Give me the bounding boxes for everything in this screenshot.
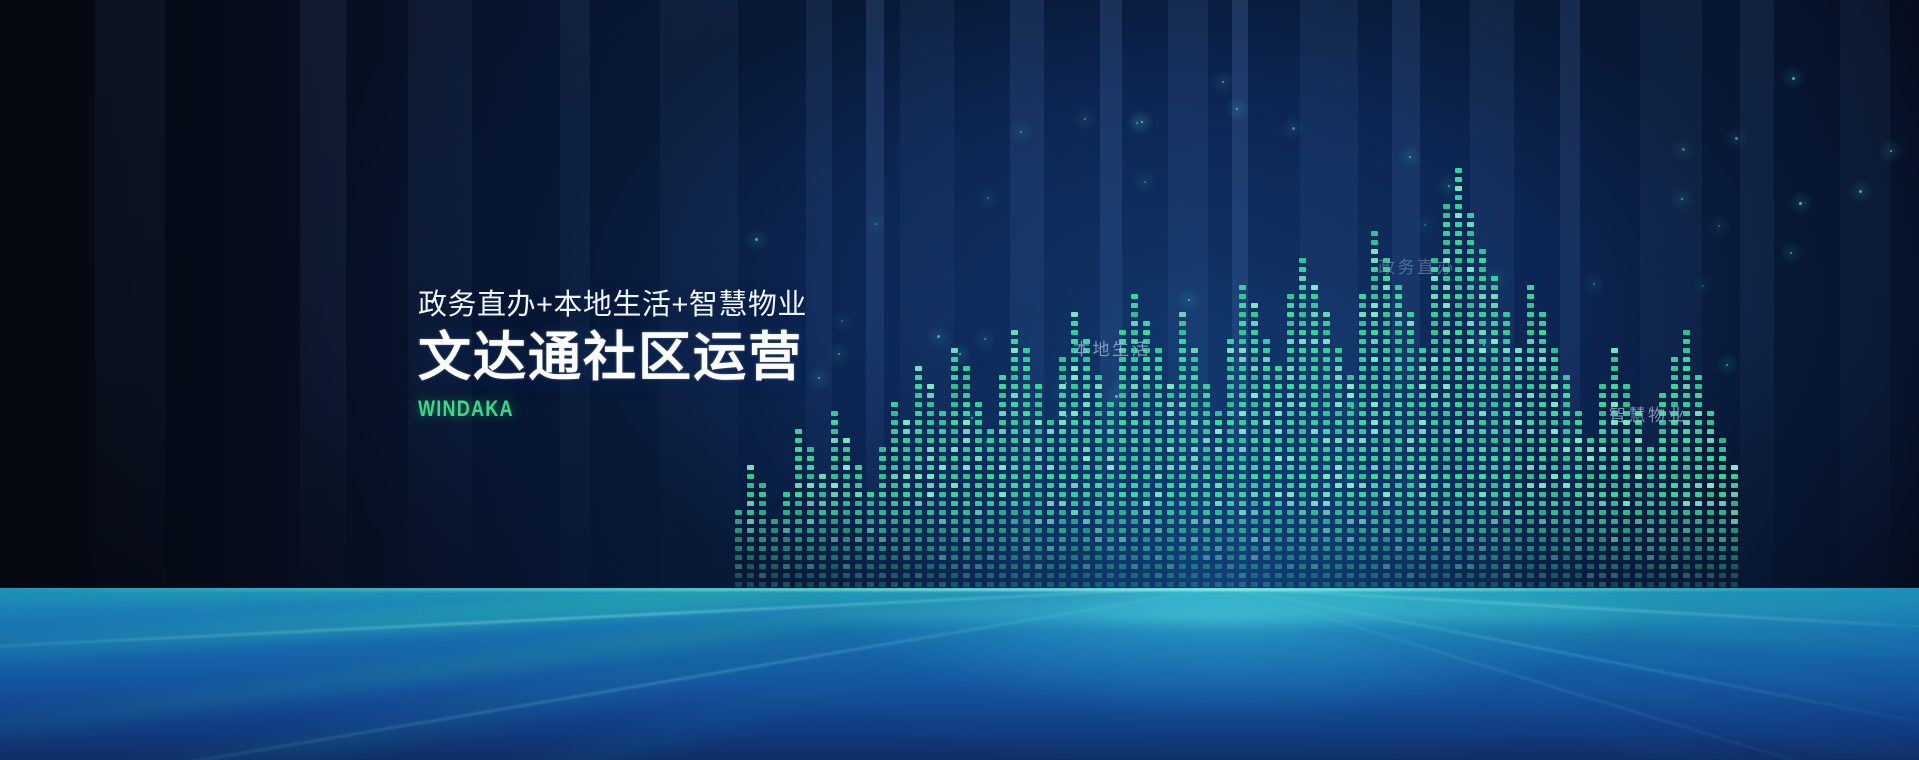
skyline-dot	[1251, 357, 1258, 362]
skyline-dot	[1251, 438, 1258, 443]
skyline-dot	[1383, 312, 1390, 317]
skyline-dot	[1695, 384, 1702, 389]
skyline-dot	[1527, 510, 1534, 515]
skyline-dot	[1083, 564, 1090, 569]
skyline-dot	[1131, 303, 1138, 308]
skyline-dot	[1131, 519, 1138, 524]
skyline-dot	[987, 573, 994, 578]
skyline-dot	[1359, 402, 1366, 407]
skyline-dot	[795, 555, 802, 560]
skyline-dot	[747, 537, 754, 542]
skyline-dot	[1287, 537, 1294, 542]
skyline-column	[1059, 347, 1066, 605]
skyline-dot	[1179, 402, 1186, 407]
skyline-dot	[1179, 474, 1186, 479]
skyline-dot	[1179, 366, 1186, 371]
skyline-dot	[1479, 528, 1486, 533]
skyline-dot	[1491, 402, 1498, 407]
skyline-column	[1659, 383, 1666, 605]
skyline-dot	[843, 546, 850, 551]
skyline-dot	[1599, 447, 1606, 452]
skyline-dot	[855, 555, 862, 560]
skyline-dot	[1191, 492, 1198, 497]
skyline-dot	[1383, 573, 1390, 578]
skyline-dot	[1623, 474, 1630, 479]
skyline-dot	[1659, 564, 1666, 569]
skyline-dot	[1623, 465, 1630, 470]
skyline-dot	[1239, 411, 1246, 416]
skyline-dot	[1311, 483, 1318, 488]
skyline-dot	[1059, 429, 1066, 434]
skyline-dot	[1059, 492, 1066, 497]
skyline-dot	[1371, 339, 1378, 344]
skyline-dot	[795, 474, 802, 479]
skyline-dot	[1599, 411, 1606, 416]
skyline-dot	[735, 546, 742, 551]
skyline-column	[1443, 193, 1450, 605]
skyline-dot	[1395, 294, 1402, 299]
skyline-dot	[1023, 447, 1030, 452]
skyline-dot	[1335, 546, 1342, 551]
skyline-dot	[759, 528, 766, 533]
skyline-dot	[939, 483, 946, 488]
skyline-dot	[1635, 537, 1642, 542]
skyline-dot	[1539, 312, 1546, 317]
skyline-dot	[1491, 438, 1498, 443]
skyline-dot	[795, 564, 802, 569]
skyline-dot	[1683, 564, 1690, 569]
skyline-dot	[1011, 546, 1018, 551]
skyline-dot	[1071, 555, 1078, 560]
skyline-dot	[1539, 537, 1546, 542]
skyline-dot	[1695, 537, 1702, 542]
skyline-dot	[1395, 555, 1402, 560]
skyline-dot	[1575, 420, 1582, 425]
skyline-dot	[1143, 330, 1150, 335]
skyline-dot	[951, 537, 958, 542]
skyline-dot	[843, 492, 850, 497]
skyline-column	[1575, 399, 1582, 605]
skyline-dot	[1371, 447, 1378, 452]
skyline-dot	[831, 483, 838, 488]
skyline-dot	[1095, 564, 1102, 569]
skyline-dot	[1083, 582, 1090, 587]
skyline-dot	[1131, 411, 1138, 416]
skyline-dot	[1143, 411, 1150, 416]
skyline-dot	[1443, 501, 1450, 506]
skyline-dot	[1539, 555, 1546, 560]
skyline-column	[1155, 343, 1162, 605]
skyline-dot	[1023, 429, 1030, 434]
skyline-dot	[1491, 474, 1498, 479]
skyline-column	[1623, 373, 1630, 605]
skyline-dot	[1599, 384, 1606, 389]
skyline-dot	[1263, 402, 1270, 407]
skyline-dot	[1347, 393, 1354, 398]
skyline-dot	[1467, 465, 1474, 470]
skyline-dot	[855, 564, 862, 569]
skyline-dot	[1263, 420, 1270, 425]
skyline-dot	[1083, 546, 1090, 551]
skyline-dot	[1515, 393, 1522, 398]
skyline-dot	[1131, 420, 1138, 425]
skyline-dot	[1251, 420, 1258, 425]
skyline-dot	[867, 582, 874, 587]
skyline-column	[1731, 461, 1738, 605]
skyline-dot	[1143, 402, 1150, 407]
skyline-dot	[1119, 474, 1126, 479]
skyline-dot	[1503, 375, 1510, 380]
skyline-dot	[1563, 564, 1570, 569]
skyline-dot	[1527, 465, 1534, 470]
skyline-dot	[1695, 510, 1702, 515]
skyline-dot	[1455, 249, 1462, 254]
skyline-dot	[1059, 582, 1066, 587]
skyline-dot	[1371, 474, 1378, 479]
skyline-dot	[1311, 411, 1318, 416]
skyline-dot	[1119, 573, 1126, 578]
skyline-dot	[1467, 222, 1474, 227]
skyline-dot	[1707, 492, 1714, 497]
skyline-dot	[1491, 501, 1498, 506]
skyline-dot	[1539, 438, 1546, 443]
skyline-dot	[1083, 375, 1090, 380]
skyline-dot	[1575, 564, 1582, 569]
skyline-dot	[1011, 510, 1018, 515]
skyline-dot	[903, 429, 910, 434]
skyline-dot	[819, 546, 826, 551]
skyline-dot	[1083, 492, 1090, 497]
skyline-dot	[1347, 429, 1354, 434]
skyline-dot	[1575, 528, 1582, 533]
skyline-dot	[1479, 564, 1486, 569]
skyline-dot	[1455, 402, 1462, 407]
skyline-dot	[1683, 537, 1690, 542]
skyline-dot	[1107, 402, 1114, 407]
skyline-dot	[1311, 330, 1318, 335]
skyline-dot	[1071, 456, 1078, 461]
skyline-dot	[999, 483, 1006, 488]
skyline-dot	[999, 474, 1006, 479]
skyline-dot	[1623, 411, 1630, 416]
skyline-column	[1719, 429, 1726, 605]
skyline-dot	[1323, 339, 1330, 344]
skyline-dot	[1503, 447, 1510, 452]
skyline-dot	[1323, 357, 1330, 362]
skyline-dot	[1587, 510, 1594, 515]
skyline-dot	[1491, 375, 1498, 380]
skyline-dot	[1323, 510, 1330, 515]
skyline-dot	[1239, 357, 1246, 362]
skyline-dot	[951, 483, 958, 488]
skyline-dot	[1155, 447, 1162, 452]
skyline-dot	[831, 528, 838, 533]
skyline-dot	[867, 492, 874, 497]
skyline-dot	[1059, 393, 1066, 398]
skyline-dot	[951, 573, 958, 578]
skyline-dot	[1035, 555, 1042, 560]
skyline-dot	[1671, 357, 1678, 362]
skyline-dot	[1263, 501, 1270, 506]
skyline-dot	[1647, 483, 1654, 488]
skyline-column	[1203, 373, 1210, 605]
skyline-dot	[1635, 456, 1642, 461]
skyline-dot	[1635, 573, 1642, 578]
skyline-dot	[1563, 501, 1570, 506]
skyline-dot	[1047, 429, 1054, 434]
skyline-dot	[1299, 528, 1306, 533]
skyline-dot	[783, 519, 790, 524]
skyline-dot	[1227, 339, 1234, 344]
skyline-dot	[1527, 456, 1534, 461]
skyline-column	[1119, 319, 1126, 605]
skyline-dot	[1539, 420, 1546, 425]
skyline-dot	[903, 456, 910, 461]
skyline-dot	[1443, 483, 1450, 488]
skyline-dot	[1299, 384, 1306, 389]
skyline-dot	[1659, 492, 1666, 497]
skyline-dot	[1455, 555, 1462, 560]
skyline-dot	[1395, 582, 1402, 587]
skyline-dot	[1383, 582, 1390, 587]
skyline-dot	[1227, 402, 1234, 407]
skyline-dot	[1107, 519, 1114, 524]
skyline-dot	[903, 537, 910, 542]
skyline-dot	[1155, 393, 1162, 398]
skyline-dot	[1143, 321, 1150, 326]
skyline-dot	[1707, 582, 1714, 587]
skyline-dot	[1671, 501, 1678, 506]
skyline-dot	[1563, 483, 1570, 488]
skyline-dot	[879, 492, 886, 497]
skyline-dot	[1179, 375, 1186, 380]
skyline-dot	[1371, 528, 1378, 533]
skyline-dot	[1059, 510, 1066, 515]
skyline-dot	[1419, 510, 1426, 515]
skyline-dot	[1251, 411, 1258, 416]
skyline-dot	[1299, 303, 1306, 308]
skyline-dot	[1239, 465, 1246, 470]
skyline-dot	[1287, 384, 1294, 389]
skyline-dot	[1119, 348, 1126, 353]
skyline-dot	[1539, 366, 1546, 371]
skyline-dot	[1239, 582, 1246, 587]
skyline-dot	[1383, 375, 1390, 380]
skyline-dot	[1431, 312, 1438, 317]
skyline-dot	[747, 564, 754, 569]
skyline-dot	[1659, 573, 1666, 578]
skyline-dot	[1683, 546, 1690, 551]
skyline-dot	[1707, 537, 1714, 542]
skyline-dot	[1119, 438, 1126, 443]
skyline-dot	[1191, 366, 1198, 371]
skyline-dot	[1383, 456, 1390, 461]
skyline-dot	[1539, 528, 1546, 533]
skyline-dot	[1455, 168, 1462, 173]
skyline-dot	[1155, 375, 1162, 380]
skyline-dot	[1407, 501, 1414, 506]
skyline-dot	[1191, 510, 1198, 515]
skyline-dot	[1287, 330, 1294, 335]
skyline-dot	[1275, 420, 1282, 425]
skyline-dot	[843, 483, 850, 488]
skyline-column	[1263, 329, 1270, 605]
skyline-dot	[903, 555, 910, 560]
skyline-dot	[1491, 357, 1498, 362]
skyline-dot	[1383, 330, 1390, 335]
skyline-dot	[1275, 447, 1282, 452]
skyline-dot	[1059, 537, 1066, 542]
skyline-dot	[759, 546, 766, 551]
skyline-dot	[1431, 546, 1438, 551]
skyline-dot	[1215, 510, 1222, 515]
skyline-dot	[1143, 483, 1150, 488]
skyline-dot	[1071, 564, 1078, 569]
skyline-dot	[1527, 555, 1534, 560]
skyline-dot	[1683, 456, 1690, 461]
skyline-dot	[747, 582, 754, 587]
skyline-dot	[1083, 438, 1090, 443]
skyline-dot	[1443, 312, 1450, 317]
skyline-dot	[1431, 330, 1438, 335]
skyline-dot	[1131, 510, 1138, 515]
skyline-dot	[1659, 447, 1666, 452]
skyline-dot	[1275, 375, 1282, 380]
skyline-dot	[1251, 321, 1258, 326]
skyline-dot	[1515, 519, 1522, 524]
skyline-dot	[1299, 564, 1306, 569]
skyline-dot	[1251, 537, 1258, 542]
skyline-dot	[1095, 456, 1102, 461]
skyline-dot	[807, 501, 814, 506]
skyline-dot	[927, 564, 934, 569]
skyline-dot	[1455, 231, 1462, 236]
skyline-dot	[1239, 492, 1246, 497]
skyline-dot	[987, 555, 994, 560]
skyline-dot	[1263, 483, 1270, 488]
skyline-dot	[1671, 375, 1678, 380]
skyline-dot	[1575, 429, 1582, 434]
skyline-dot	[1083, 384, 1090, 389]
skyline-dot	[1515, 492, 1522, 497]
skyline-dot	[1443, 402, 1450, 407]
skyline-dot	[1287, 312, 1294, 317]
skyline-dot	[1083, 366, 1090, 371]
skyline-dot	[1275, 582, 1282, 587]
skyline-dot	[963, 429, 970, 434]
skyline-column	[879, 437, 886, 605]
skyline-dot	[891, 492, 898, 497]
skyline-dot	[1311, 438, 1318, 443]
skyline-dot	[1659, 474, 1666, 479]
skyline-dot	[1311, 375, 1318, 380]
skyline-dot	[1611, 420, 1618, 425]
skyline-dot	[1407, 384, 1414, 389]
skyline-dot	[879, 537, 886, 542]
skyline-dot	[819, 483, 826, 488]
skyline-dot	[1443, 204, 1450, 209]
skyline-dot	[999, 447, 1006, 452]
skyline-dot	[1431, 303, 1438, 308]
skyline-dot	[1443, 411, 1450, 416]
skyline-dot	[1443, 294, 1450, 299]
skyline-dot	[891, 501, 898, 506]
skyline-dot	[1179, 465, 1186, 470]
skyline-dot	[1467, 510, 1474, 515]
skyline-dot	[1407, 366, 1414, 371]
skyline-dot	[1359, 366, 1366, 371]
skyline-dot	[1683, 492, 1690, 497]
skyline-dot	[951, 546, 958, 551]
skyline-dot	[1059, 366, 1066, 371]
skyline-dot	[1683, 474, 1690, 479]
skyline-dot	[1203, 519, 1210, 524]
skyline-dot	[1203, 465, 1210, 470]
skyline-dot	[1431, 294, 1438, 299]
skyline-dot	[1371, 501, 1378, 506]
skyline-dot	[1515, 465, 1522, 470]
skyline-dot	[1095, 474, 1102, 479]
skyline-dot	[1431, 510, 1438, 515]
skyline-dot	[963, 483, 970, 488]
skyline-dot	[1479, 303, 1486, 308]
skyline-dot	[1239, 384, 1246, 389]
skyline-dot	[1011, 528, 1018, 533]
skyline-dot	[1731, 537, 1738, 542]
skyline-dot	[1071, 321, 1078, 326]
skyline-dot	[1035, 474, 1042, 479]
skyline-dot	[1419, 348, 1426, 353]
skyline-dot	[1395, 420, 1402, 425]
skyline-dot	[1323, 438, 1330, 443]
skyline-dot	[951, 456, 958, 461]
skyline-dot	[1035, 483, 1042, 488]
skyline-dot	[1503, 357, 1510, 362]
skyline-dot	[1587, 465, 1594, 470]
skyline-dot	[1695, 420, 1702, 425]
skyline-dot	[843, 555, 850, 560]
skyline-dot	[1539, 393, 1546, 398]
skyline-dot	[891, 510, 898, 515]
skyline-column	[1563, 369, 1570, 605]
skyline-dot	[1227, 519, 1234, 524]
skyline-dot	[1059, 474, 1066, 479]
skyline-dot	[1635, 420, 1642, 425]
skyline-dot	[807, 447, 814, 452]
skyline-dot	[1155, 357, 1162, 362]
skyline-dot	[1455, 204, 1462, 209]
skyline-dot	[1515, 420, 1522, 425]
skyline-dot	[1611, 492, 1618, 497]
skyline-dot	[1179, 483, 1186, 488]
skyline-dot	[1035, 537, 1042, 542]
skyline-dot	[1131, 528, 1138, 533]
skyline-dot	[747, 465, 754, 470]
skyline-dot	[1491, 564, 1498, 569]
skyline-dot	[819, 573, 826, 578]
skyline-dot	[1191, 357, 1198, 362]
skyline-dot	[1083, 339, 1090, 344]
skyline-dot	[1119, 330, 1126, 335]
skyline-dot	[1119, 375, 1126, 380]
skyline-dot	[1311, 294, 1318, 299]
skyline-dot	[1155, 510, 1162, 515]
skyline-dot	[1059, 501, 1066, 506]
skyline-dot	[1143, 420, 1150, 425]
skyline-column	[1587, 429, 1594, 605]
skyline-dot	[1359, 348, 1366, 353]
skyline-dot	[819, 537, 826, 542]
